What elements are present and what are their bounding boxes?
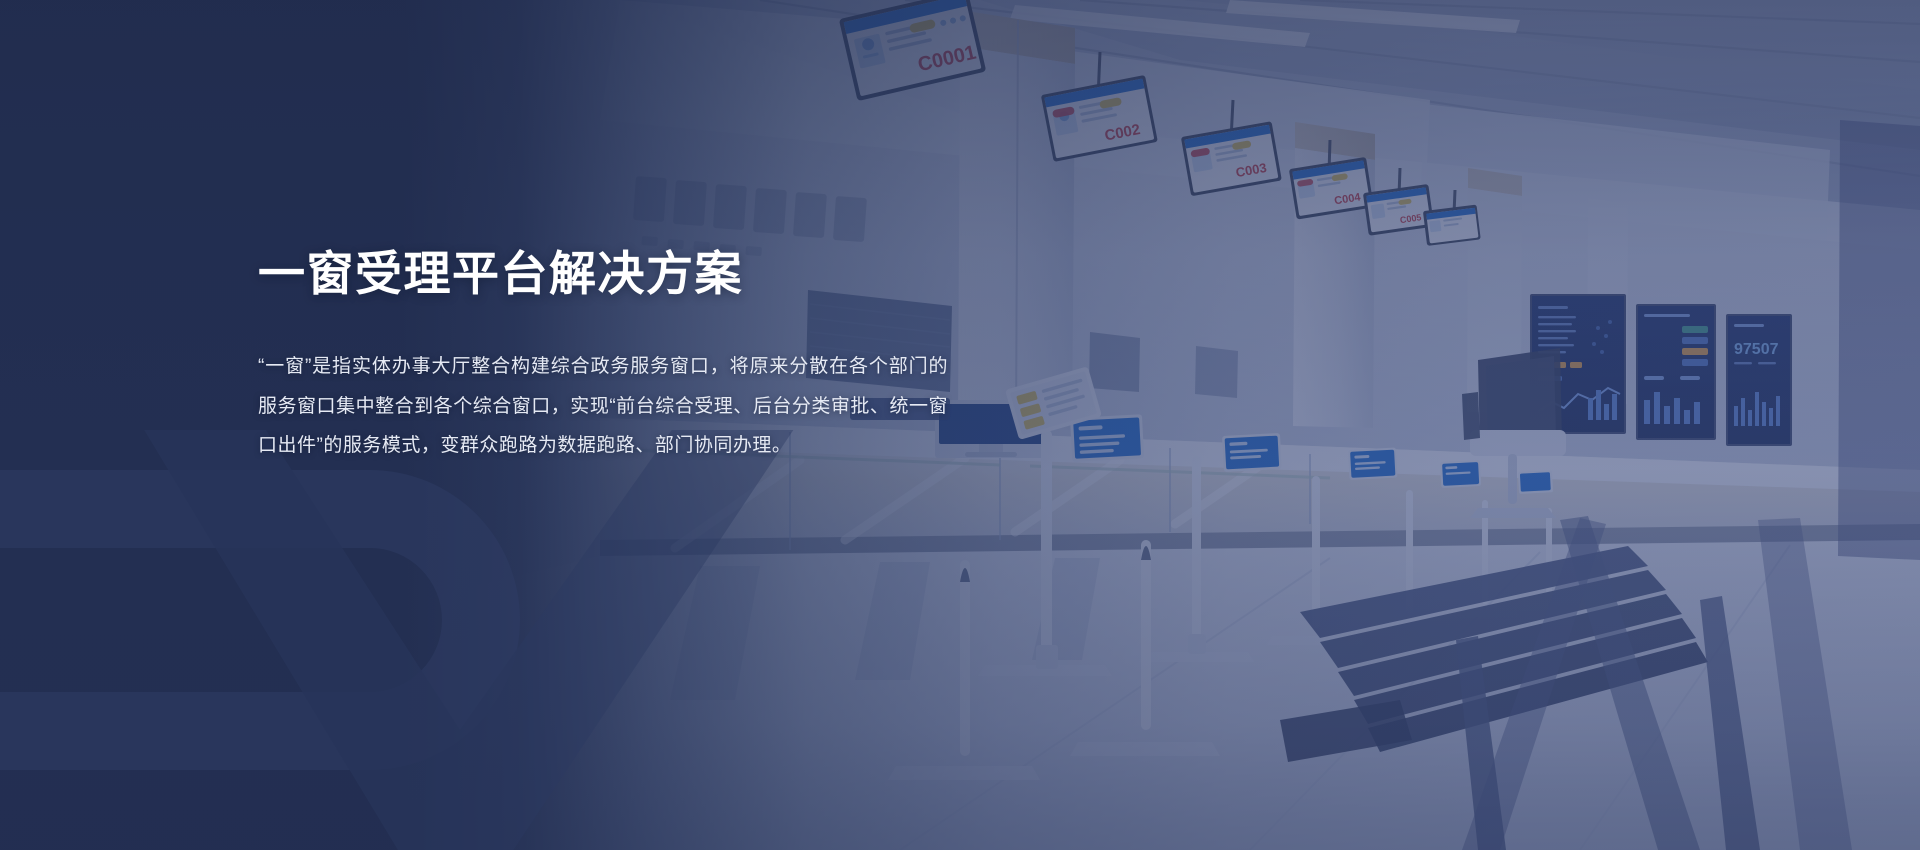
hero-title: 一窗受理平台解决方案 [258,246,948,301]
svg-text:97507: 97507 [1734,341,1779,358]
hero-banner: C0001 [0,0,1920,850]
hero-description: “一窗”是指实体办事大厅整合构建综合政务服务窗口，将原来分散在各个部门的服务窗口… [258,301,948,465]
hero-content: 一窗受理平台解决方案 “一窗”是指实体办事大厅整合构建综合政务服务窗口，将原来分… [258,246,948,465]
wall-dashboard-screens: 97507 [1530,294,1792,446]
